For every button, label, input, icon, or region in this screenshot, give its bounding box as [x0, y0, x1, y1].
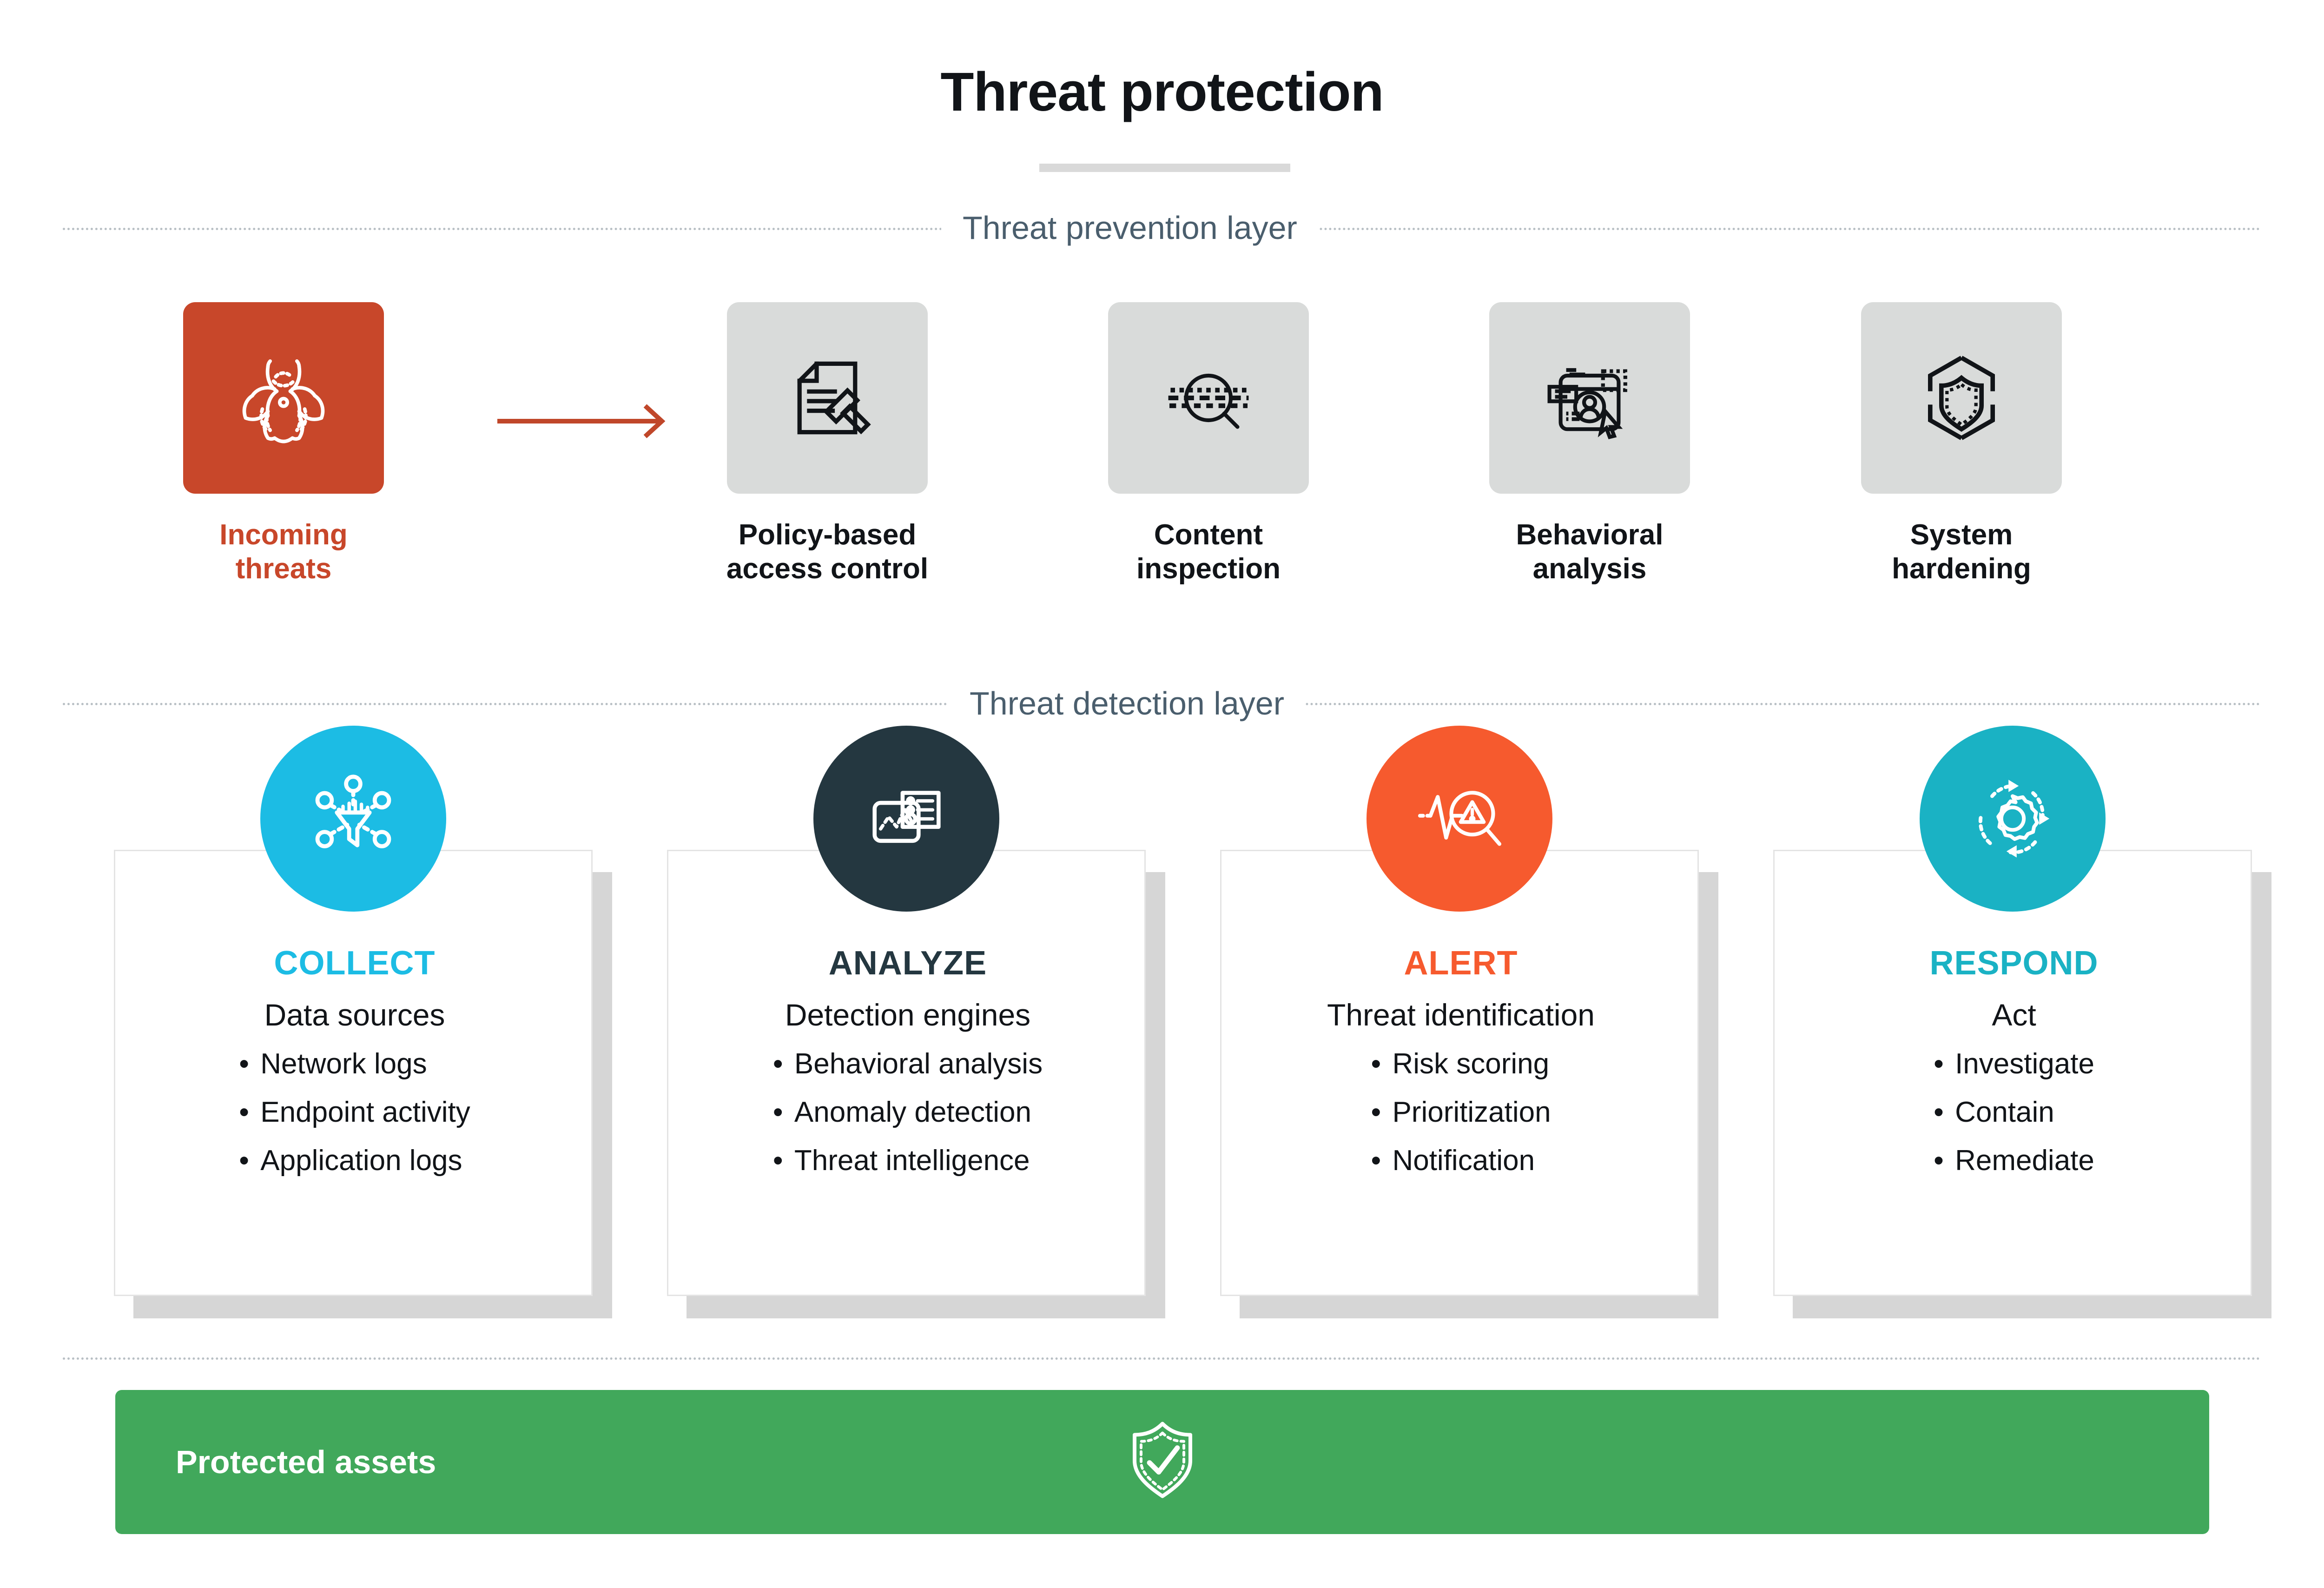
protected-assets-label: Protected assets — [176, 1443, 436, 1481]
list-item: Behavioral analysis — [773, 1050, 1043, 1079]
card-kicker: RESPOND — [1786, 944, 2242, 982]
list-item: Contain — [1934, 1098, 2094, 1127]
card-bullet-list: Investigate Contain Remediate — [1934, 1050, 2094, 1195]
flow-arrow — [497, 393, 674, 451]
prevention-item-label: System hardening — [1831, 518, 2092, 586]
prevention-item-policy-access-control[interactable]: Policy-based access control — [697, 302, 957, 586]
detection-card-alert[interactable]: ALERT Threat identification Risk scoring… — [1220, 850, 1699, 1296]
label-line-1: Content — [1154, 519, 1263, 551]
label-line-1: Incoming — [219, 519, 348, 551]
protected-assets-bar[interactable]: Protected assets — [115, 1390, 2209, 1534]
label-line-2: threats — [236, 553, 332, 585]
protected-assets-icon-wrap — [1116, 1415, 1209, 1510]
document-gavel-icon — [774, 344, 881, 451]
prevention-item-label: Behavioral analysis — [1459, 518, 1720, 586]
card-body: ALERT Threat identification Risk scoring… — [1221, 944, 1700, 1195]
threat-protection-diagram: Threat protection Threat prevention laye… — [0, 0, 2324, 1588]
policy-tile — [727, 302, 928, 494]
card-kicker: ALERT — [1233, 944, 1689, 982]
detection-card-analyze[interactable]: ANALYZE Detection engines Behavioral ana… — [667, 850, 1146, 1296]
card-kicker: ANALYZE — [680, 944, 1136, 982]
card-kicker: COLLECT — [126, 944, 583, 982]
card-subtitle: Detection engines — [680, 998, 1136, 1032]
label-line-1: Policy-based — [739, 519, 916, 551]
prevention-item-label: Policy-based access control — [697, 518, 957, 586]
label-line-2: hardening — [1892, 553, 2031, 585]
alert-magnifier-icon — [1407, 767, 1512, 871]
prevention-item-system-hardening[interactable]: System hardening — [1831, 302, 2092, 586]
analyze-icon-badge — [813, 726, 999, 912]
card-subtitle: Threat identification — [1233, 998, 1689, 1032]
funnel-network-icon — [302, 768, 404, 870]
list-item: Network logs — [239, 1050, 470, 1079]
detection-card-collect[interactable]: COLLECT Data sources Network logs Endpoi… — [114, 850, 593, 1296]
respond-icon-badge — [1920, 726, 2106, 912]
card-surface: RESPOND Act Investigate Contain Remediat… — [1773, 850, 2252, 1296]
card-surface: ALERT Threat identification Risk scoring… — [1220, 850, 1699, 1296]
prevention-item-label: Incoming threats — [153, 518, 414, 586]
content-inspection-tile — [1108, 302, 1309, 494]
card-surface: ANALYZE Detection engines Behavioral ana… — [667, 850, 1146, 1296]
behavioral-analysis-tile — [1489, 302, 1690, 494]
collect-icon-badge — [260, 726, 446, 912]
alert-icon-badge — [1367, 726, 1552, 912]
chart-monitor-icon — [857, 769, 957, 869]
card-bullet-list: Network logs Endpoint activity Applicati… — [239, 1050, 470, 1195]
list-item: Prioritization — [1371, 1098, 1551, 1127]
prevention-item-content-inspection[interactable]: Content inspection — [1078, 302, 1339, 586]
label-line-1: System — [1910, 519, 2013, 551]
detection-layer-caption: Threat detection layer — [948, 678, 1306, 729]
arrow-right-icon — [497, 393, 674, 449]
prevention-row: Incoming threats Po — [0, 302, 2324, 646]
user-window-cursor-icon — [1534, 342, 1645, 454]
prevention-layer-caption: Threat prevention layer — [941, 202, 1319, 253]
card-body: RESPOND Act Investigate Contain Remediat… — [1775, 944, 2253, 1195]
biohazard-icon — [228, 342, 339, 454]
magnifier-text-icon — [1153, 342, 1264, 454]
title-divider — [1039, 164, 1290, 172]
label-line-2: access control — [726, 553, 928, 585]
card-bullet-list: Risk scoring Prioritization Notification — [1371, 1050, 1551, 1195]
card-body: COLLECT Data sources Network logs Endpoi… — [115, 944, 594, 1195]
card-bullet-list: Behavioral analysis Anomaly detection Th… — [773, 1050, 1043, 1195]
shield-check-icon — [1116, 1415, 1209, 1508]
prevention-item-label: Content inspection — [1078, 518, 1339, 586]
list-item: Investigate — [1934, 1050, 2094, 1079]
card-body: ANALYZE Detection engines Behavioral ana… — [668, 944, 1147, 1195]
label-line-1: Behavioral — [1516, 519, 1663, 551]
assets-layer-divider — [63, 1357, 2261, 1360]
label-line-2: inspection — [1136, 553, 1281, 585]
card-subtitle: Act — [1786, 998, 2242, 1032]
card-surface: COLLECT Data sources Network logs Endpoi… — [114, 850, 593, 1296]
list-item: Threat intelligence — [773, 1146, 1043, 1175]
incoming-threats-tile — [183, 302, 384, 494]
list-item: Remediate — [1934, 1146, 2094, 1175]
gear-cycle-icon — [1961, 768, 2064, 870]
detection-card-respond[interactable]: RESPOND Act Investigate Contain Remediat… — [1773, 850, 2252, 1296]
list-item: Notification — [1371, 1146, 1551, 1175]
list-item: Risk scoring — [1371, 1050, 1551, 1079]
detection-cards: COLLECT Data sources Network logs Endpoi… — [0, 850, 2324, 1315]
card-subtitle: Data sources — [126, 998, 583, 1032]
system-hardening-tile — [1861, 302, 2062, 494]
list-item: Endpoint activity — [239, 1098, 470, 1127]
list-item: Anomaly detection — [773, 1098, 1043, 1127]
prevention-item-behavioral-analysis[interactable]: Behavioral analysis — [1459, 302, 1720, 586]
prevention-item-incoming-threats[interactable]: Incoming threats — [153, 302, 414, 586]
label-line-2: analysis — [1533, 553, 1647, 585]
list-item: Application logs — [239, 1146, 470, 1175]
shield-hexagon-icon — [1906, 342, 2017, 454]
page-title: Threat protection — [0, 60, 2324, 124]
